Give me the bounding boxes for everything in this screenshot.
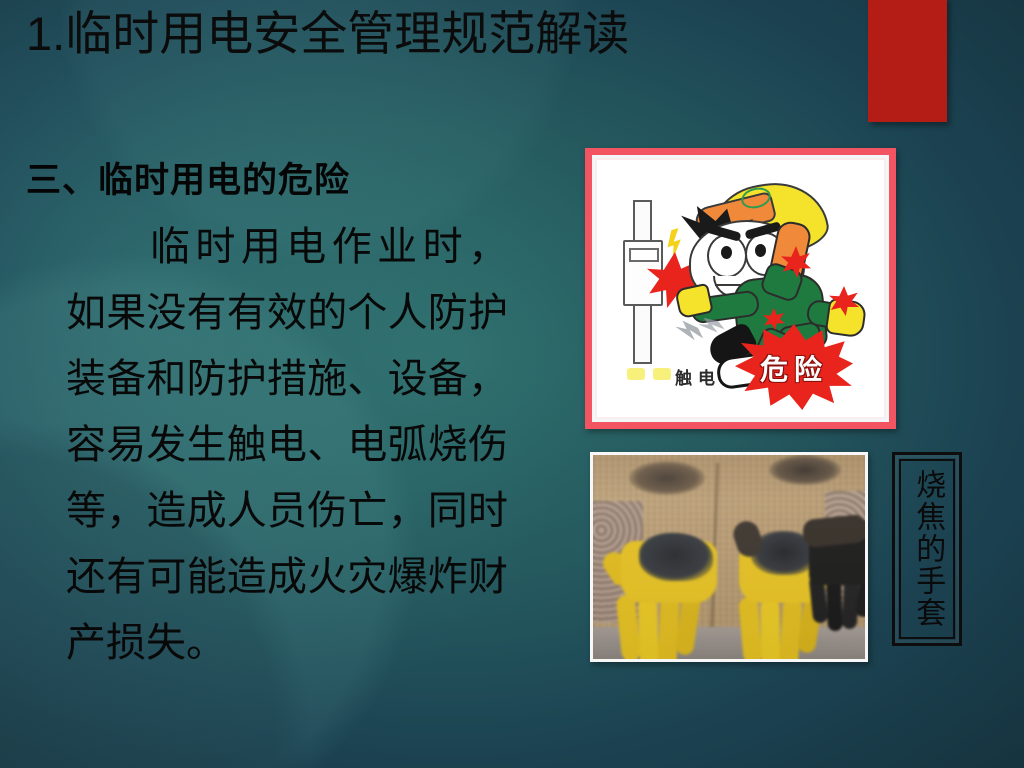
electric-shock-label: 触电 <box>675 364 721 389</box>
burnt-gloves-photo <box>590 452 868 662</box>
yellow-blob-2 <box>653 368 671 380</box>
body-paragraph: 临时用电作业时，如果没有有效的个人防护装备和防护措施、设备，容易发生触电、电弧烧… <box>66 214 508 676</box>
photo-blur-overlay <box>593 455 865 659</box>
caption-inner-border: 烧焦的手套 <box>899 459 955 639</box>
red-accent-block <box>868 0 947 122</box>
right-pupil-shape <box>755 244 766 257</box>
section-heading: 三、临时用电的危险 <box>26 152 350 203</box>
danger-label: 危险 <box>735 348 853 388</box>
caption-vertical-label: 烧焦的手套 <box>911 469 943 629</box>
left-pupil-shape <box>721 246 732 259</box>
slide-canvas: 1.临时用电安全管理规范解读 三、临时用电的危险 临时用电作业时，如果没有有效的… <box>0 0 1024 768</box>
electric-shock-cartoon-image: 危险 触电 <box>585 148 896 429</box>
slide-title: 1.临时用电安全管理规范解读 <box>26 8 856 60</box>
switch-lever-shape <box>629 248 659 262</box>
caption-box: 烧焦的手套 <box>892 452 962 646</box>
yellow-blob-1 <box>627 368 645 380</box>
